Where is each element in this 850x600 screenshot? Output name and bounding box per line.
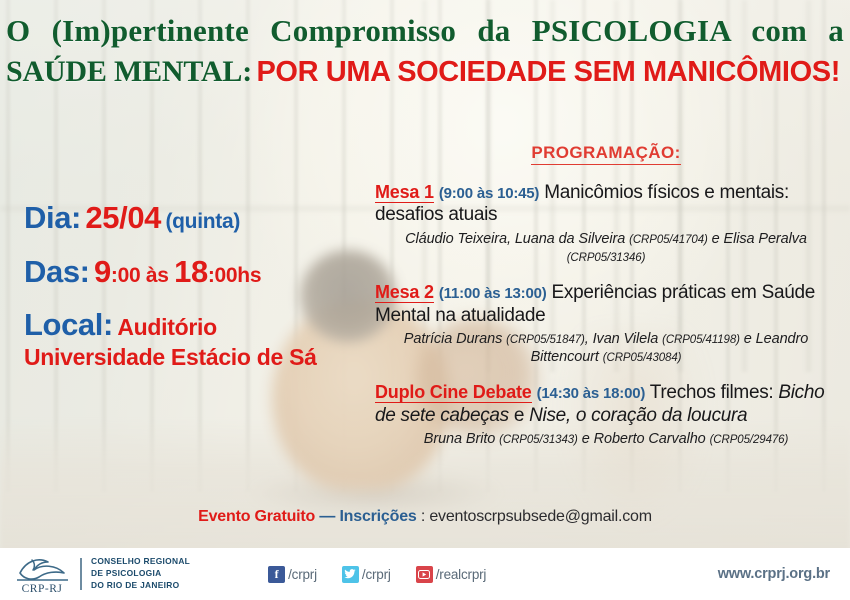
footer-bar: CRP-RJ CONSELHO REGIONAL DE PSICOLOGIA D… <box>0 548 850 600</box>
website-url[interactable]: www.crprj.org.br <box>718 566 830 582</box>
film-title-2: Nise, o coração da loucura <box>529 405 747 426</box>
title-line-2: SAÚDE MENTAL: POR UMA SOCIEDADE SEM MANI… <box>0 56 850 88</box>
programme-item: Mesa 1 (9:00 às 10:45) Manicômios físico… <box>375 182 837 266</box>
programme-item: Duplo Cine Debate (14:30 às 18:00) Trech… <box>375 382 837 449</box>
speaker-names: , Ivan Vilela <box>585 331 662 347</box>
registration-line: Evento Gratuito — Inscrições : eventoscr… <box>0 508 850 526</box>
event-place-row: Local: Auditório Universidade Estácio de… <box>24 307 334 371</box>
film-separator: e <box>509 405 529 426</box>
programme-item-speakers: Cláudio Teixeira, Luana da Silveira (CRP… <box>375 231 837 266</box>
place-label: Local: <box>24 307 113 342</box>
poster-title: O (Im)pertinente Compromisso da PSICOLOG… <box>0 14 850 88</box>
date-label: Dia: <box>24 200 81 235</box>
event-date-row: Dia: 25/04 (quinta) <box>24 200 334 237</box>
org-line-2: DE PSICOLOGIA <box>91 568 190 580</box>
programme-item-tag: Mesa 2 <box>375 282 434 303</box>
registration-label: Inscrições <box>339 508 416 525</box>
programme-item-title: Manicômios físicos e mentais: desafios a… <box>375 182 789 225</box>
programme-heading: PROGRAMAÇÃO: <box>531 143 680 165</box>
registration-email[interactable]: eventoscrpsubsede@gmail.com <box>429 508 652 525</box>
organization-name: CONSELHO REGIONAL DE PSICOLOGIA DO RIO D… <box>91 556 190 592</box>
programme-item-main: Mesa 2 (11:00 às 13:00) Experiências prá… <box>375 282 837 327</box>
speaker-crp: (CRP05/51847) <box>506 334 585 346</box>
time-end-minute: :00hs <box>208 264 261 287</box>
programme-item-time: (9:00 às 10:45) <box>439 185 539 202</box>
facebook-icon: f <box>268 566 285 583</box>
title-line-1: O (Im)pertinente Compromisso da PSICOLOG… <box>0 14 850 47</box>
speaker-names: e Roberto Carvalho <box>578 431 710 447</box>
youtube-icon <box>416 566 433 583</box>
social-link-youtube[interactable]: /realcrprj <box>416 566 487 583</box>
social-link-twitter[interactable]: /crprj <box>342 566 391 583</box>
youtube-play-glyph <box>418 570 430 579</box>
social-links: f /crprj /crprj /realcrprj <box>268 566 486 583</box>
programme-item-time: (14:30 às 18:00) <box>537 385 646 402</box>
time-start-minute: :00 <box>111 264 140 287</box>
speaker-crp: (CRP05/43084) <box>603 352 682 364</box>
registration-dash: — <box>315 508 339 525</box>
programme-block: PROGRAMAÇÃO: Mesa 1 (9:00 às 10:45) Mani… <box>375 143 837 465</box>
speaker-crp: (CRP05/41198) <box>662 334 740 346</box>
facebook-handle: /crprj <box>288 567 317 582</box>
title-subject: SAÚDE MENTAL: <box>6 55 252 88</box>
speaker-names: Cláudio Teixeira, Luana da Silveira <box>405 231 629 247</box>
speaker-crp: (CRP05/29476) <box>710 434 789 446</box>
twitter-bird-glyph <box>344 569 356 579</box>
programme-item-speakers: Bruna Brito (CRP05/31343) e Roberto Carv… <box>375 431 837 449</box>
time-start-hour: 9 <box>94 254 111 289</box>
programme-heading-wrap: PROGRAMAÇÃO: <box>375 143 837 165</box>
free-event-label: Evento Gratuito <box>198 508 315 525</box>
time-end-hour: 18 <box>174 254 208 289</box>
programme-item-main: Duplo Cine Debate (14:30 às 18:00) Trech… <box>375 382 837 427</box>
social-link-facebook[interactable]: f /crprj <box>268 566 317 583</box>
programme-item-tag: Duplo Cine Debate <box>375 382 532 403</box>
twitter-handle: /crprj <box>362 567 391 582</box>
org-line-1: CONSELHO REGIONAL <box>91 556 190 568</box>
event-poster: O (Im)pertinente Compromisso da PSICOLOG… <box>0 0 850 600</box>
speaker-crp: (CRP05/41704) <box>629 234 708 246</box>
crp-rj-logo: CRP-RJ CONSELHO REGIONAL DE PSICOLOGIA D… <box>12 553 190 595</box>
youtube-handle: /realcrprj <box>436 567 487 582</box>
crp-rj-logo-mark: CRP-RJ <box>12 553 76 595</box>
svg-text:CRP-RJ: CRP-RJ <box>22 583 63 595</box>
speaker-names: Patrícia Durans <box>404 331 506 347</box>
title-slogan: POR UMA SOCIEDADE SEM MANICÔMIOS! <box>256 56 839 88</box>
time-label: Das: <box>24 254 90 289</box>
org-line-3: DO RIO DE JANEIRO <box>91 580 190 592</box>
programme-item-title-prefix: Trechos filmes: <box>650 382 779 403</box>
time-separator: às <box>140 264 174 287</box>
programme-item-time: (11:00 às 13:00) <box>439 285 547 302</box>
speaker-crp: (CRP05/31346) <box>567 252 646 264</box>
bird-quill-icon: CRP-RJ <box>12 553 76 595</box>
date-value: 25/04 <box>85 200 161 235</box>
twitter-icon <box>342 566 359 583</box>
speaker-crp: (CRP05/31343) <box>499 434 578 446</box>
programme-item: Mesa 2 (11:00 às 13:00) Experiências prá… <box>375 282 837 366</box>
programme-item-main: Mesa 1 (9:00 às 10:45) Manicômios físico… <box>375 182 837 227</box>
speaker-names: e Elisa Peralva <box>708 231 807 247</box>
registration-colon: : <box>417 508 430 525</box>
event-time-row: Das: 9:00 às 18:00hs <box>24 254 334 291</box>
logo-divider <box>80 558 82 590</box>
programme-item-tag: Mesa 1 <box>375 182 434 203</box>
speaker-names: Bruna Brito <box>424 431 499 447</box>
event-details-block: Dia: 25/04 (quinta) Das: 9:00 às 18:00hs… <box>24 200 334 388</box>
date-weekday: (quinta) <box>165 210 240 233</box>
programme-item-speakers: Patrícia Durans (CRP05/51847), Ivan Vile… <box>375 331 837 366</box>
